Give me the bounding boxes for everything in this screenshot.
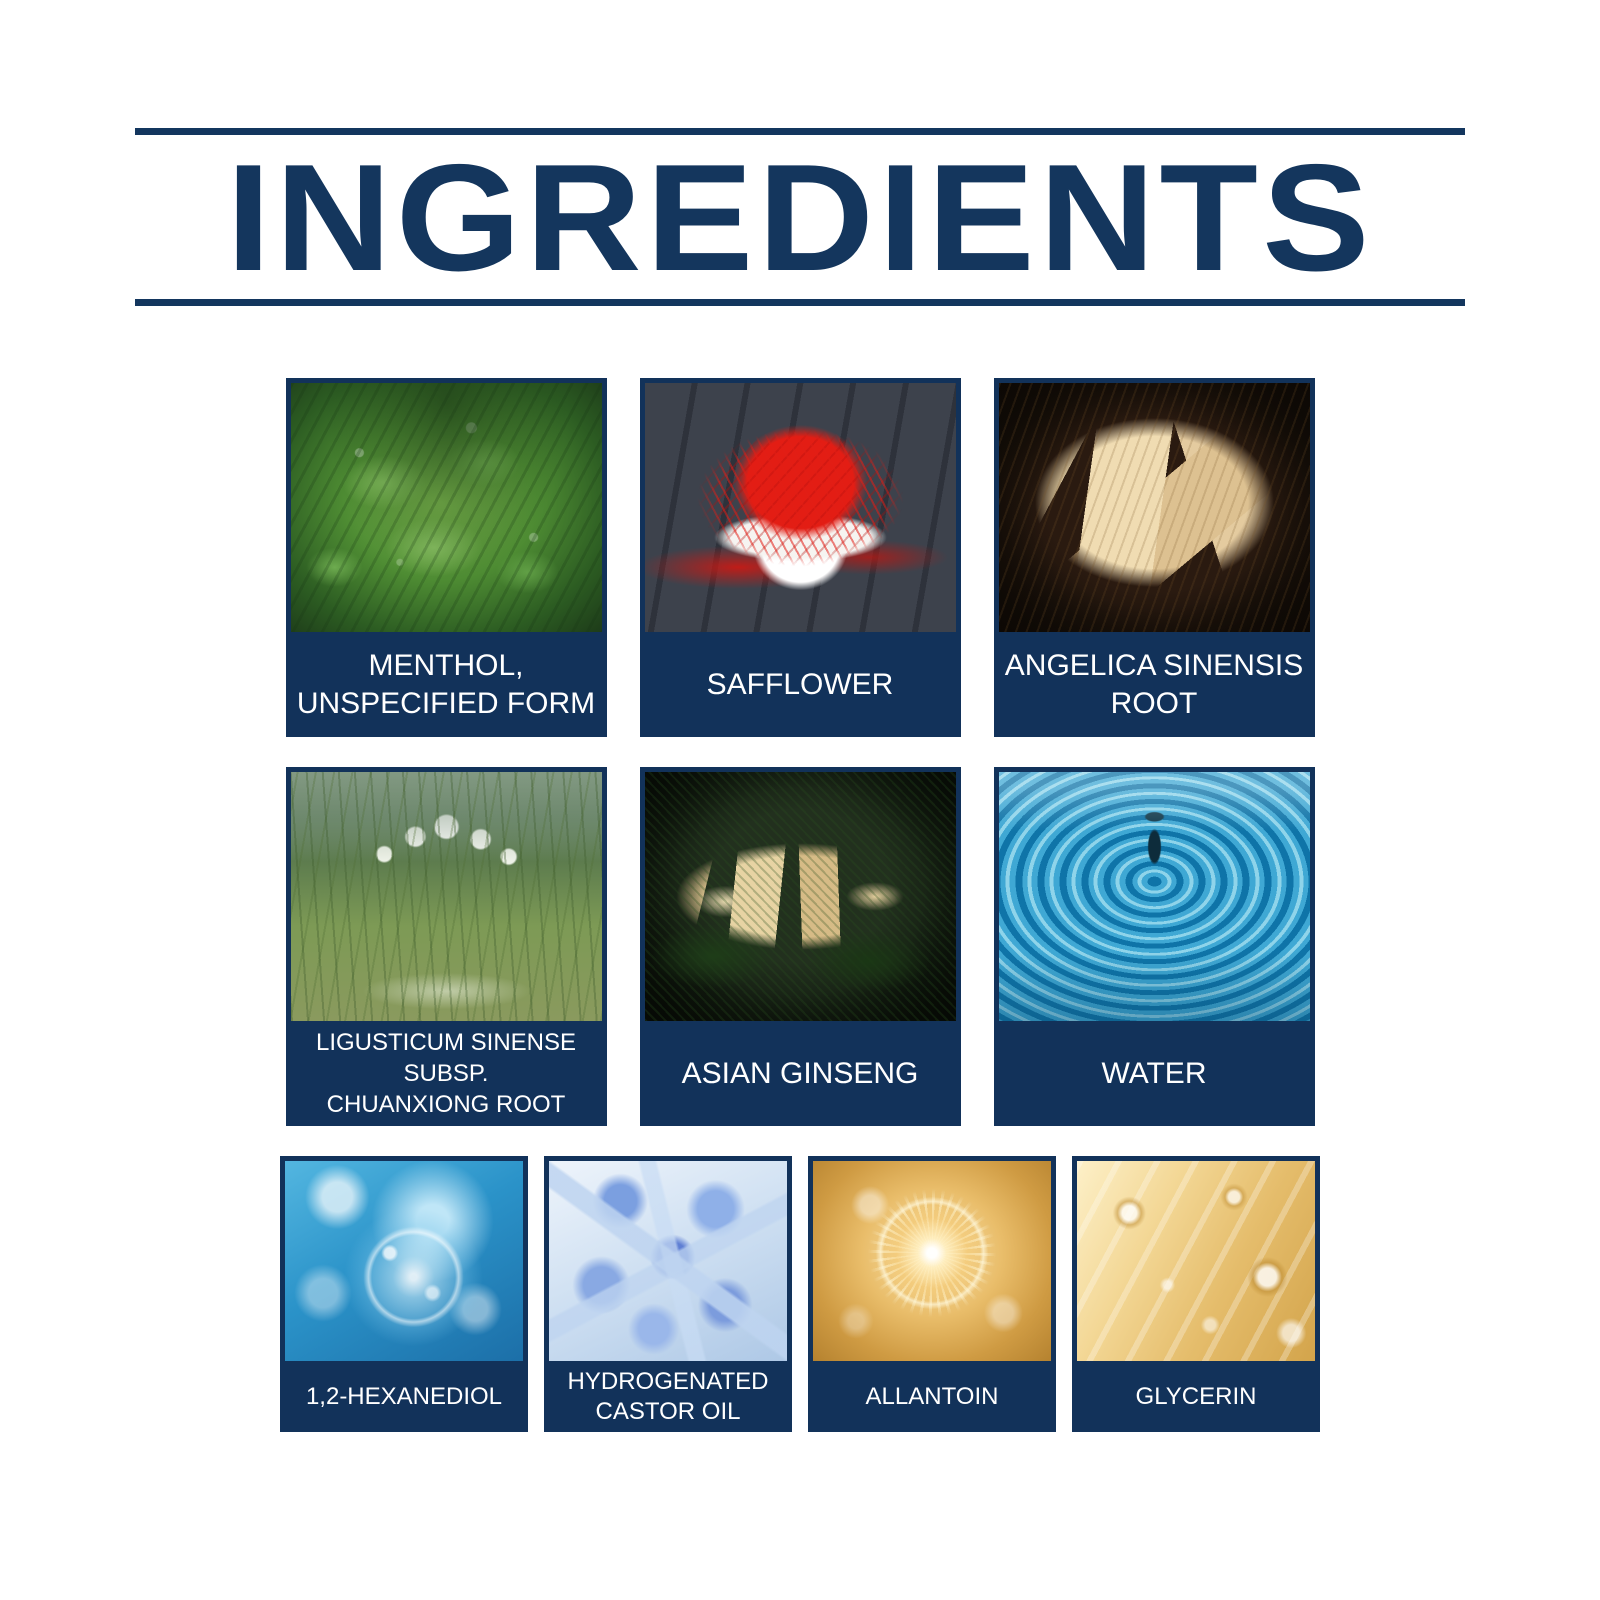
ingredient-image-ligusticum [291,772,602,1021]
ingredient-label-angelica-sinensis-root: ANGELICA SINENSIS ROOT [999,632,1310,737]
ingredient-label-safflower: SAFFLOWER [645,632,956,737]
ingredient-label-text: SAFFLOWER [707,666,894,704]
water-droplet-icon [999,772,1310,1021]
ingredients-row-1: MENTHOL, UNSPECIFIED FORM SAFFLOWER ANGE… [0,378,1600,737]
ingredient-image-hexanediol [285,1161,523,1361]
ingredient-label-text: HYDROGENATED CASTOR OIL [568,1367,769,1427]
ingredient-image-water [999,772,1310,1021]
dried-root-icon [999,383,1310,632]
page-title: INGREDIENTS [95,135,1505,299]
ingredient-card-ligusticum[interactable]: LIGUSTICUM SINENSE SUBSP. CHUANXIONG ROO… [286,767,607,1126]
ingredient-label-hydrogenated-castor-oil: HYDROGENATED CASTOR OIL [549,1361,787,1432]
ingredient-label-menthol: MENTHOL, UNSPECIFIED FORM [291,632,602,737]
ingredient-label-ligusticum: LIGUSTICUM SINENSE SUBSP. CHUANXIONG ROO… [291,1021,602,1126]
ingredient-label-glycerin: GLYCERIN [1077,1361,1315,1432]
ingredient-image-asian-ginseng [645,772,956,1021]
ingredient-image-allantoin [813,1161,1051,1361]
ingredient-card-angelica-sinensis-root[interactable]: ANGELICA SINENSIS ROOT [994,378,1315,737]
page-header: INGREDIENTS [135,128,1465,306]
ingredient-card-menthol[interactable]: MENTHOL, UNSPECIFIED FORM [286,378,607,737]
water-bubble-icon [285,1161,523,1361]
ingredient-card-water[interactable]: WATER [994,767,1315,1126]
ingredient-card-glycerin[interactable]: GLYCERIN [1072,1156,1320,1432]
ingredients-row-2: LIGUSTICUM SINENSE SUBSP. CHUANXIONG ROO… [0,767,1600,1126]
ingredient-label-text: LIGUSTICUM SINENSE SUBSP. CHUANXIONG ROO… [297,1027,596,1120]
ingredient-label-text: WATER [1102,1055,1207,1093]
ingredient-label-allantoin: ALLANTOIN [813,1361,1051,1432]
ingredient-image-hydrogenated-castor-oil [549,1161,787,1361]
ingredient-label-text: 1,2-HEXANEDIOL [306,1382,502,1412]
ingredient-card-asian-ginseng[interactable]: ASIAN GINSENG [640,767,961,1126]
flowering-plant-icon [291,772,602,1021]
ingredient-image-angelica-sinensis-root [999,383,1310,632]
ingredient-label-text: MENTHOL, UNSPECIFIED FORM [297,647,595,723]
ingredient-label-text: ASIAN GINSENG [682,1055,919,1093]
safflower-threads-icon [645,383,956,632]
ingredients-grid: MENTHOL, UNSPECIFIED FORM SAFFLOWER ANGE… [0,378,1600,1432]
golden-oil-icon [1077,1161,1315,1361]
ingredient-image-glycerin [1077,1161,1315,1361]
mint-plant-icon [291,383,602,632]
ingredient-label-asian-ginseng: ASIAN GINSENG [645,1021,956,1126]
ingredient-card-allantoin[interactable]: ALLANTOIN [808,1156,1056,1432]
ingredient-label-water: WATER [999,1021,1310,1126]
ingredient-label-hexanediol: 1,2-HEXANEDIOL [285,1361,523,1432]
ingredient-label-text: ANGELICA SINENSIS ROOT [1005,647,1303,723]
ingredient-card-hexanediol[interactable]: 1,2-HEXANEDIOL [280,1156,528,1432]
ingredient-card-safflower[interactable]: SAFFLOWER [640,378,961,737]
ingredient-image-menthol [291,383,602,632]
golden-capsule-icon [813,1161,1051,1361]
ingredient-image-safflower [645,383,956,632]
ingredient-card-hydrogenated-castor-oil[interactable]: HYDROGENATED CASTOR OIL [544,1156,792,1432]
ginseng-roots-icon [645,772,956,1021]
ingredient-label-text: GLYCERIN [1136,1382,1257,1412]
molecular-spheres-icon [549,1161,787,1361]
ingredients-row-3: 1,2-HEXANEDIOL HYDROGENATED CASTOR OIL A… [0,1156,1600,1432]
ingredient-label-text: ALLANTOIN [866,1382,999,1412]
